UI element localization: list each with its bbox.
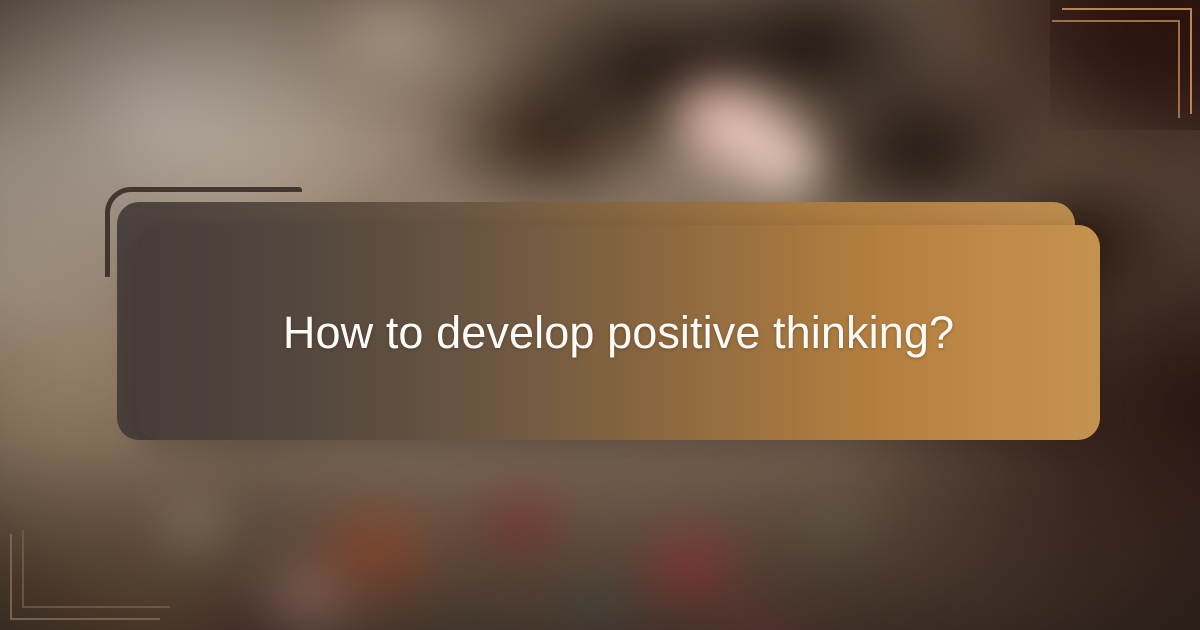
page-title: How to develop positive thinking? <box>137 225 1100 440</box>
poster-canvas: How to develop positive thinking? <box>0 0 1200 630</box>
corner-shadow-top-right <box>1050 0 1200 130</box>
